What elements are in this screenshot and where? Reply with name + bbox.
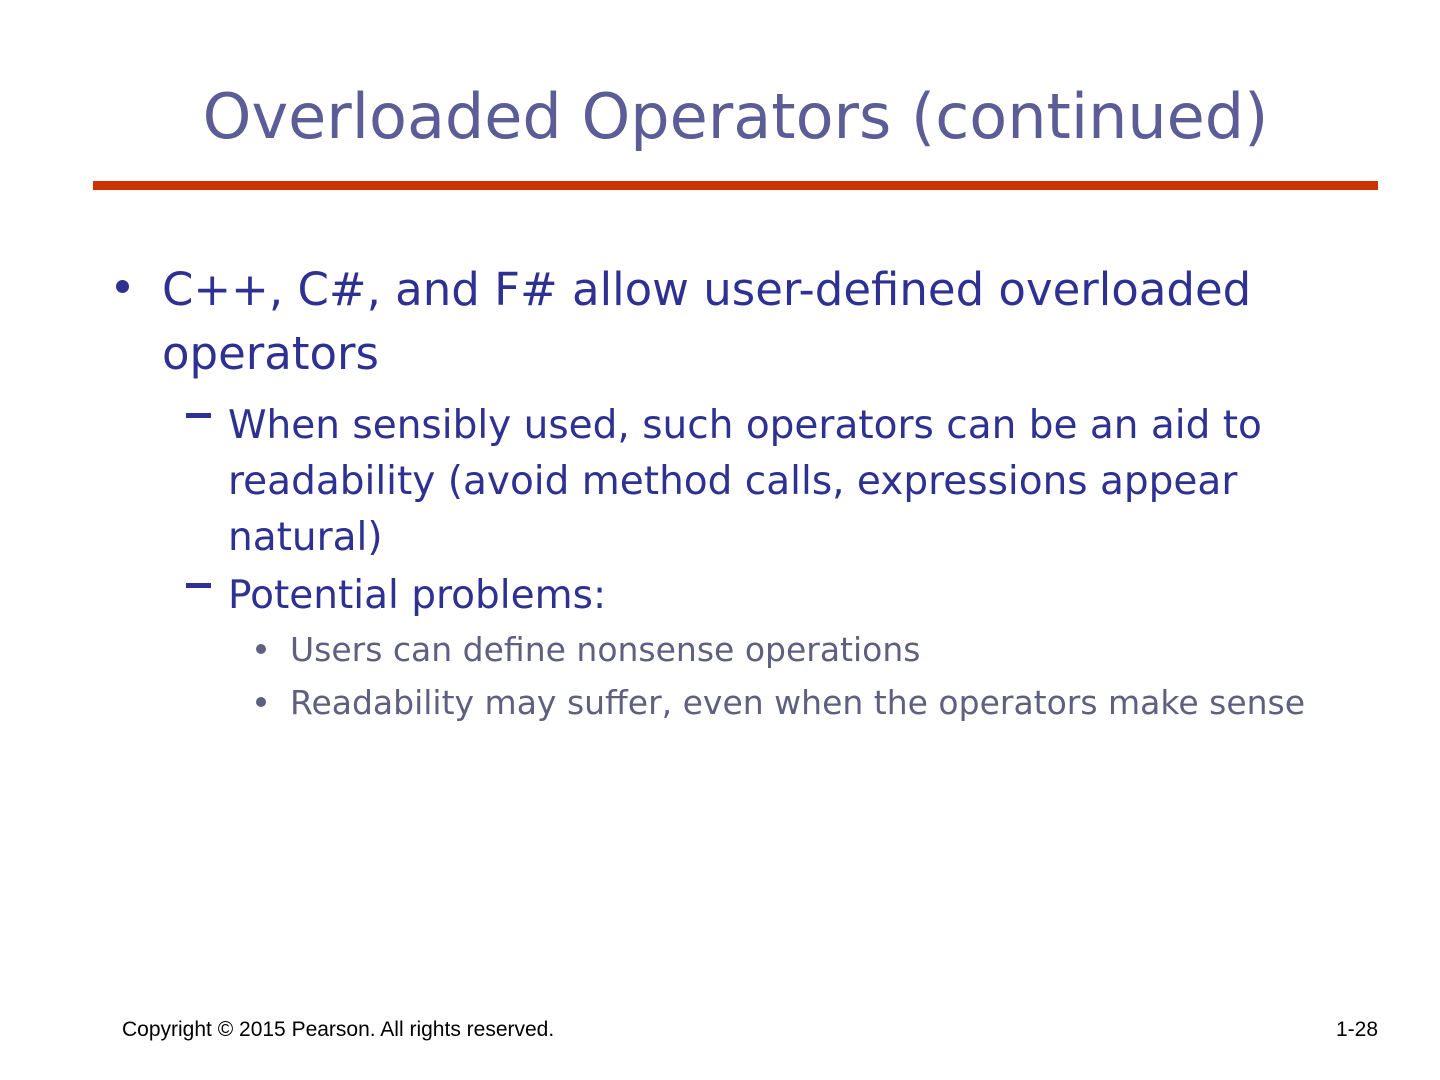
list-item: Readability may suffer, even when the op… bbox=[0, 679, 1440, 728]
slide-body: C++, C#, and F# allow user-defined overl… bbox=[0, 258, 1440, 731]
slide-canvas: Overloaded Operators (continued) C++, C#… bbox=[0, 0, 1440, 1080]
list-item: Users can define nonsense operations bbox=[0, 626, 1440, 675]
round-bullet-icon bbox=[256, 626, 290, 658]
list-item-label: Users can define nonsense operations bbox=[290, 626, 1340, 675]
slide-footer: Copyright © 2015 Pearson. All rights res… bbox=[0, 1018, 1440, 1058]
list-item-label: When sensibly used, such operators can b… bbox=[228, 398, 1366, 566]
page-number: 1-28 bbox=[1336, 1018, 1378, 1042]
page-title: Overloaded Operators (continued) bbox=[203, 84, 1269, 149]
round-bullet-icon bbox=[110, 258, 162, 304]
copyright-notice: Copyright © 2015 Pearson. All rights res… bbox=[122, 1018, 554, 1042]
round-bullet-icon bbox=[256, 679, 290, 711]
title-divider-rule bbox=[93, 181, 1378, 190]
list-item-label: Potential problems: bbox=[228, 568, 1366, 624]
list-item: When sensibly used, such operators can b… bbox=[0, 398, 1440, 566]
slide-title-container: Overloaded Operators (continued) bbox=[93, 62, 1378, 172]
list-item-label: C++, C#, and F# allow user-defined overl… bbox=[162, 258, 1384, 386]
list-item-label: Readability may suffer, even when the op… bbox=[290, 679, 1340, 728]
dash-bullet-icon bbox=[186, 568, 228, 588]
list-item: Potential problems: bbox=[0, 568, 1440, 624]
list-item: C++, C#, and F# allow user-defined overl… bbox=[0, 258, 1440, 386]
dash-bullet-icon bbox=[186, 398, 228, 418]
